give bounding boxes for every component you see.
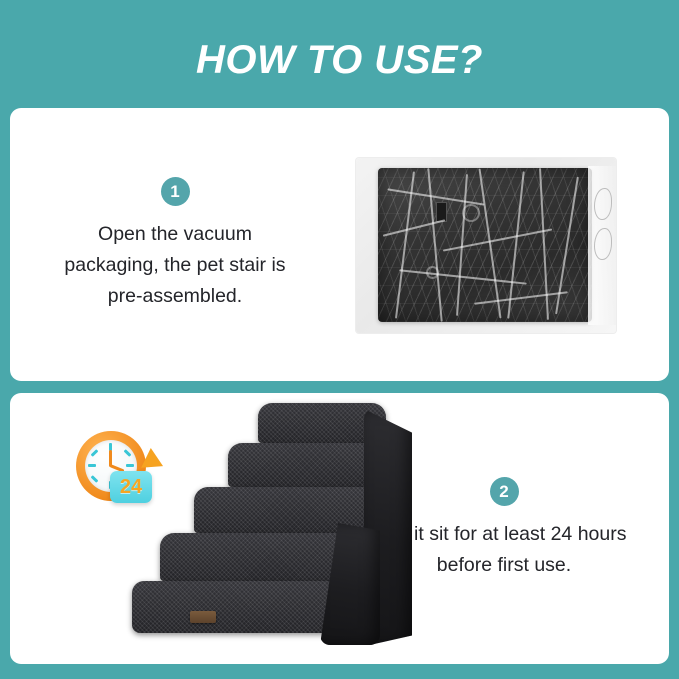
step-card-1: 1 Open the vacuum packaging, the pet sta… bbox=[10, 108, 669, 381]
package-label bbox=[436, 202, 447, 222]
stair-tread-3 bbox=[194, 487, 386, 533]
plastic-crinkle-overlay bbox=[378, 168, 592, 322]
recycle-mark-icon bbox=[426, 266, 439, 279]
how-to-use-page: HOW TO USE? 1 Open the vacuum packaging,… bbox=[0, 0, 679, 679]
pet-stair-image: 24 bbox=[10, 393, 339, 664]
foam-stair bbox=[132, 403, 412, 643]
step-2-badge: 2 bbox=[490, 477, 519, 506]
page-title: HOW TO USE? bbox=[10, 0, 669, 108]
foam-block bbox=[378, 168, 592, 322]
print-mark-icon bbox=[462, 204, 480, 222]
step-1-badge: 1 bbox=[161, 177, 190, 206]
vacuum-package-image bbox=[356, 158, 616, 333]
step-1-description: Open the vacuum packaging, the pet stair… bbox=[50, 219, 300, 312]
step-card-2: 24 2 Let it sit for bbox=[10, 393, 669, 664]
step-2-image-column: 24 bbox=[10, 393, 339, 664]
step-1-text-column: 1 Open the vacuum packaging, the pet sta… bbox=[10, 177, 340, 312]
step-1-image-column bbox=[340, 108, 669, 381]
stair-tread-4 bbox=[228, 443, 386, 487]
brand-tag bbox=[190, 611, 216, 623]
plastic-seal-edge bbox=[588, 166, 616, 325]
step-2-description: Let it sit for at least 24 hours before … bbox=[379, 519, 629, 581]
